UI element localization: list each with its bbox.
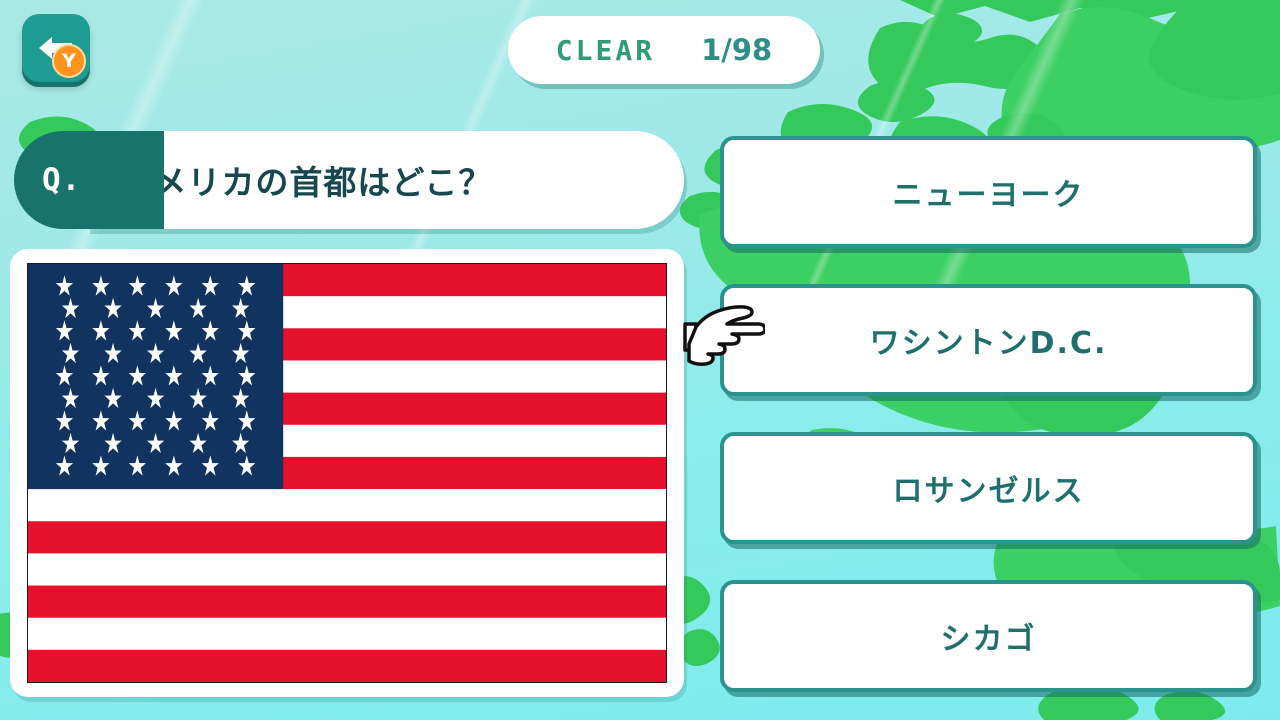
answer-option-2-label: ワシントンD.C.: [870, 318, 1108, 362]
answer-options-list: ニューヨーク ワシントンD.C. ロサンゼルス シカゴ: [720, 136, 1260, 692]
answer-option-2[interactable]: ワシントンD.C.: [720, 284, 1257, 396]
question-badge-label: Q.: [42, 162, 81, 198]
answer-option-4[interactable]: シカゴ: [720, 580, 1257, 692]
question-bar: アメリカの首都はどこ？ Q.: [14, 131, 684, 229]
answer-option-3[interactable]: ロサンゼルス: [720, 432, 1257, 544]
answer-option-1[interactable]: ニューヨーク: [720, 136, 1257, 248]
answer-option-1-label: ニューヨーク: [893, 170, 1085, 214]
united-states-flag-image: [27, 263, 667, 683]
clear-label: CLEAR: [556, 34, 655, 67]
question-text: アメリカの首都はどこ？: [121, 156, 492, 204]
clear-status-pill: CLEAR 1/98: [508, 16, 820, 84]
clear-counter: 1/98: [701, 33, 772, 67]
answer-option-4-label: シカゴ: [941, 614, 1037, 658]
question-panel: アメリカの首都はどこ？: [87, 131, 684, 229]
quiz-screen: Y CLEAR 1/98 アメリカの首都はどこ？ Q.: [0, 0, 1280, 720]
flag-card: [10, 249, 684, 697]
answer-option-3-label: ロサンゼルス: [893, 466, 1085, 510]
button-badge-y[interactable]: Y: [52, 44, 86, 78]
question-badge: Q.: [14, 131, 164, 229]
